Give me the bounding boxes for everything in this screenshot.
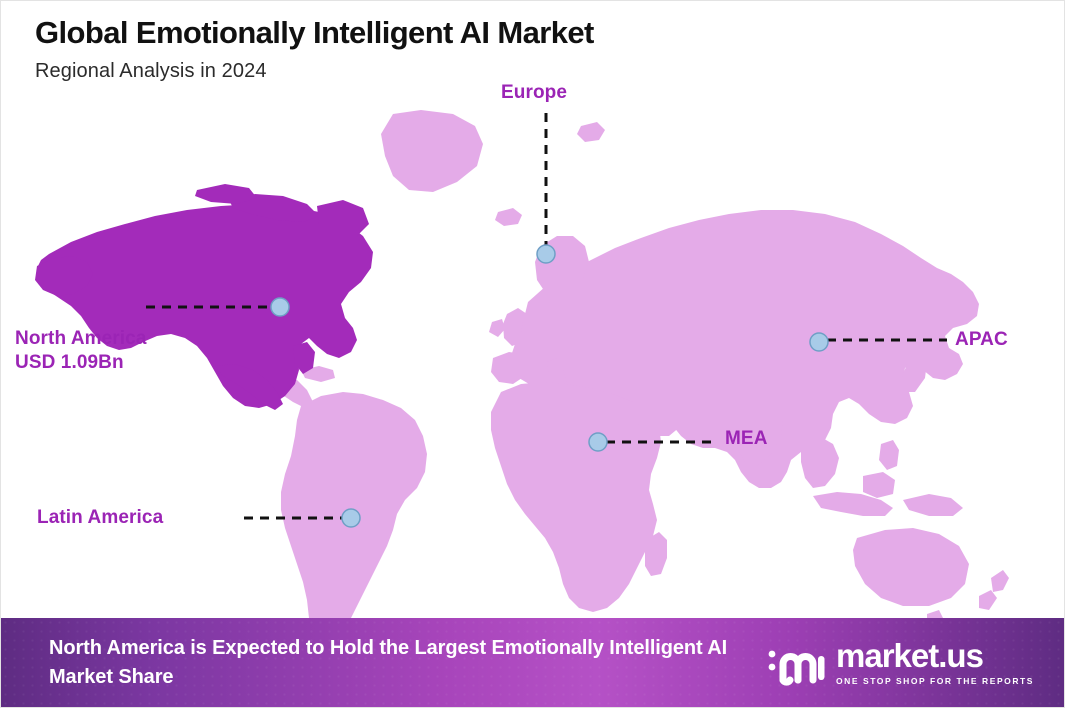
region-label-latin-america[interactable]: Latin America (37, 506, 163, 530)
page-subtitle: Regional Analysis in 2024 (35, 60, 895, 83)
region-label-apac[interactable]: APAC (955, 328, 1008, 352)
infographic-root: Global Emotionally Intelligent AI Market… (0, 0, 1065, 708)
region-name-europe: Europe (501, 82, 567, 103)
footer-banner: North America is Expected to Hold the La… (1, 618, 1065, 707)
world-map (1, 96, 1065, 621)
marker-latin-america[interactable] (342, 509, 360, 527)
region-name-north-america: North America (15, 328, 147, 349)
marker-mea[interactable] (589, 433, 607, 451)
landmass-australia (853, 528, 969, 606)
footer-headline: North America is Expected to Hold the La… (49, 634, 763, 691)
landmass-sea-peninsula (801, 436, 839, 488)
marker-apac[interactable] (810, 333, 828, 351)
brand-wordmark: market.us ONE STOP SHOP FOR THE REPORTS (836, 639, 1034, 686)
marker-north-america[interactable] (271, 298, 289, 316)
landmass-south-america (281, 392, 427, 621)
market-us-logo-icon (763, 640, 825, 686)
marker-europe[interactable] (537, 245, 555, 263)
world-map-svg (1, 96, 1065, 621)
landmass-new-guinea (903, 494, 963, 516)
map-base-landmasses (267, 110, 1009, 621)
landmass-borneo (863, 472, 895, 498)
region-name-mea: MEA (725, 428, 768, 449)
region-label-north-america[interactable]: North America USD 1.09Bn (15, 327, 147, 375)
brand-logo[interactable]: market.us ONE STOP SHOP FOR THE REPORTS (763, 639, 1040, 686)
header: Global Emotionally Intelligent AI Market… (35, 15, 895, 83)
region-name-apac: APAC (955, 329, 1008, 350)
region-label-mea[interactable]: MEA (725, 427, 768, 451)
region-name-latin-america: Latin America (37, 507, 163, 528)
landmass-iceland (495, 208, 522, 226)
landmass-greenland (381, 110, 483, 192)
landmass-new-zealand (991, 570, 1009, 592)
region-value-north-america: USD 1.09Bn (15, 351, 147, 375)
landmass-philippines (879, 440, 899, 470)
region-label-europe[interactable]: Europe (501, 81, 567, 105)
brand-tagline: ONE STOP SHOP FOR THE REPORTS (836, 676, 1034, 686)
landmass-svalbard (577, 122, 605, 142)
page-title: Global Emotionally Intelligent AI Market (35, 15, 895, 51)
brand-name: market.us (836, 639, 983, 672)
landmass-ireland (489, 319, 505, 337)
landmass-new-zealand-south (979, 590, 997, 610)
